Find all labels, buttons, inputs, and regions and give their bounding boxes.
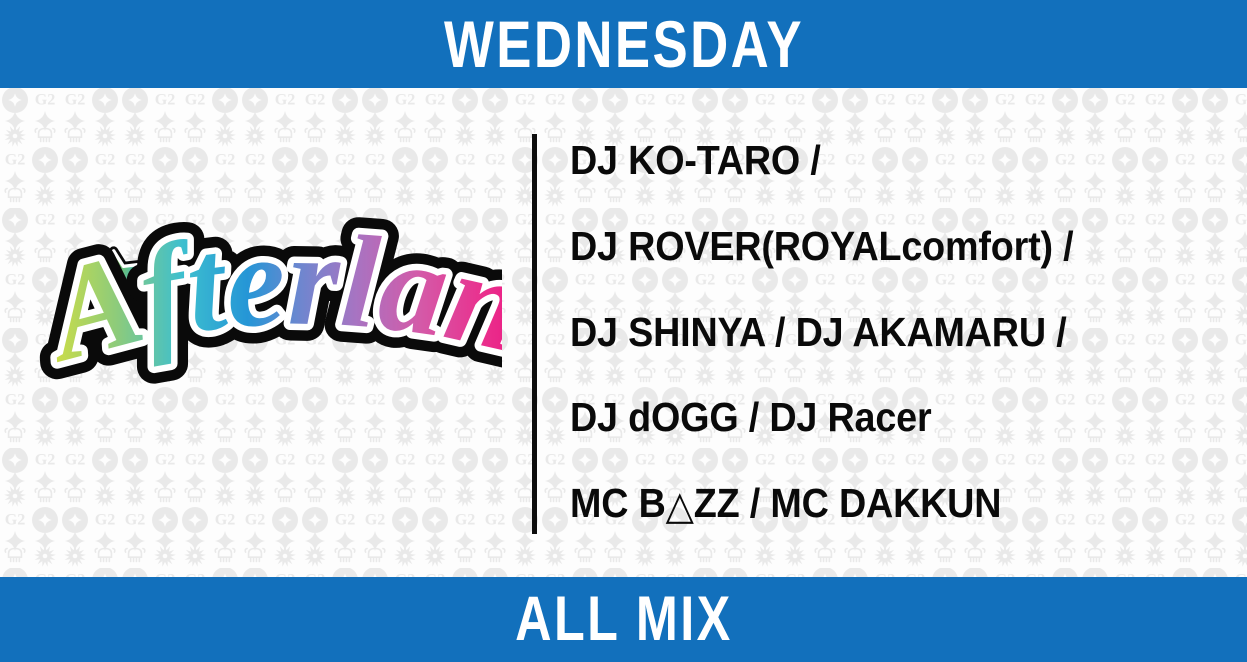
lineup-line: DJ ROVER(ROYALcomfort) / [570,226,1177,267]
lineup-line: DJ dOGG / DJ Racer [570,397,1177,438]
footer-band: ALL MIX [0,577,1247,662]
lineup-line: DJ SHINYA / DJ AKAMARU / [570,312,1177,353]
header-band: WEDNESDAY [0,0,1247,88]
lineup-line-part: MC B [570,480,666,526]
svg-text:Afterland: Afterland [32,213,502,390]
vertical-divider [532,134,537,534]
afterland-logo: Afterland Afterland Afterland [0,88,533,577]
flyer-canvas: WEDNESDAY [0,0,1247,662]
page-title: WEDNESDAY [443,11,803,77]
genre-title: ALL MIX [515,588,732,651]
lineup-line: MC B△ZZ / MC DAKKUN [570,483,1177,524]
lineup-list: DJ KO-TARO / DJ ROVER(ROYALcomfort) / DJ… [570,134,1230,534]
lineup-line: DJ KO-TARO / [570,140,1177,181]
triangle-icon: △ [666,486,694,526]
afterland-logo-svg: Afterland Afterland Afterland [32,213,502,453]
lineup-line-part: ZZ / MC DAKKUN [694,480,1002,526]
logo-wordmark: Afterland Afterland Afterland [32,213,502,390]
